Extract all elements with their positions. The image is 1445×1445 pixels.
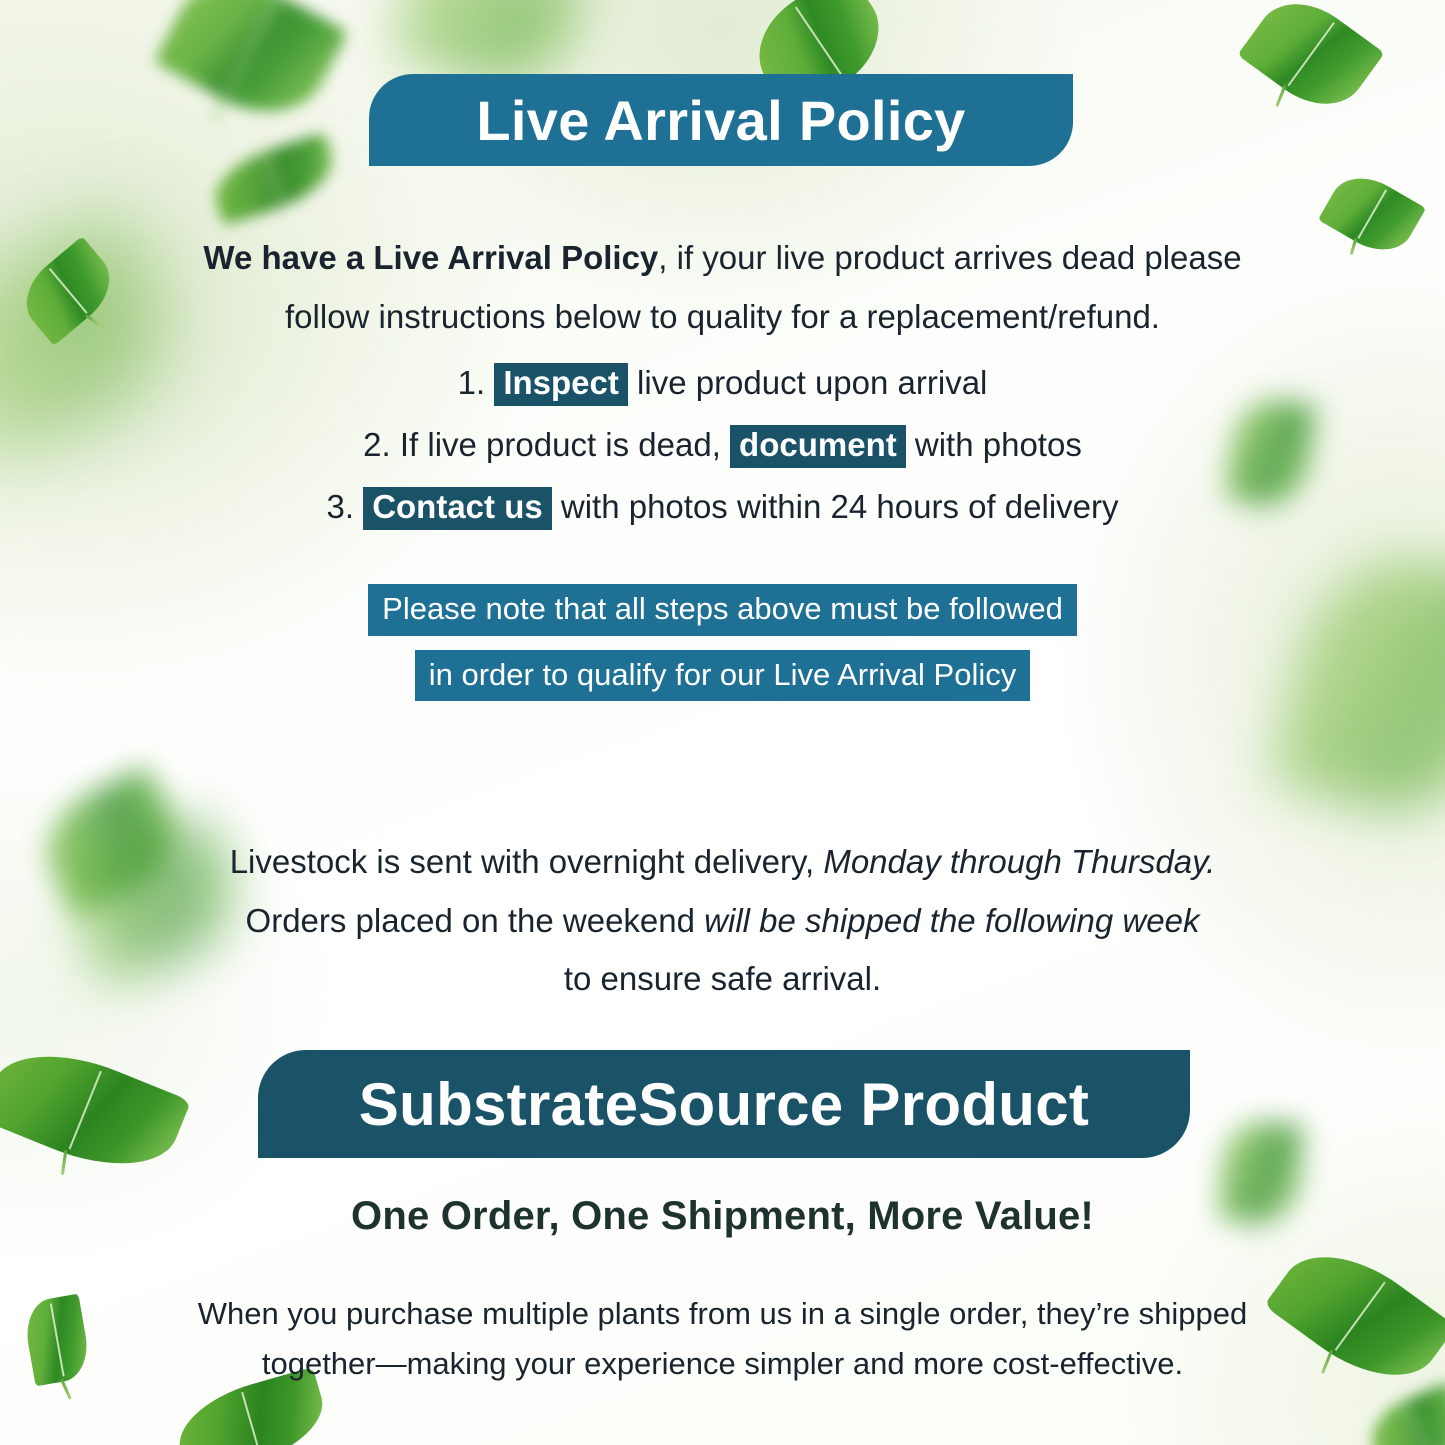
note-line-2: in order to qualify for our Live Arrival…: [415, 650, 1031, 702]
step-number: 3.: [326, 488, 354, 525]
promo-content: Live Arrival Policy We have a Live Arriv…: [0, 0, 1445, 1445]
shipping-line3-text: to ensure safe arrival.: [564, 960, 881, 997]
intro-bold-lead: We have a Live Arrival Policy: [203, 239, 658, 276]
live-arrival-policy-banner: Live Arrival Policy: [369, 74, 1073, 166]
live-arrival-policy-title: Live Arrival Policy: [476, 88, 965, 153]
shipping-line1-text: Livestock is sent with overnight deliver…: [230, 843, 814, 880]
step-highlight-inspect: Inspect: [494, 363, 628, 406]
value-line-1: When you purchase multiple plants from u…: [198, 1296, 1247, 1331]
step-text-before: If live product is dead,: [400, 426, 721, 463]
shipping-line2-emphasis: will be shipped the following week: [704, 902, 1199, 939]
value-line-2: together—making your experience simpler …: [262, 1346, 1183, 1381]
step-text-after: live product upon arrival: [637, 364, 987, 401]
shipping-line2-text: Orders placed on the weekend: [246, 902, 695, 939]
step-highlight-document: document: [730, 425, 906, 468]
list-item: 1. Inspect live product upon arrival: [160, 352, 1285, 414]
promo-graphic-page: Live Arrival Policy We have a Live Arriv…: [0, 0, 1445, 1445]
step-text-after: with photos within 24 hours of delivery: [561, 488, 1119, 525]
value-paragraph: When you purchase multiple plants from u…: [160, 1289, 1285, 1389]
shipping-schedule-paragraph: Livestock is sent with overnight deliver…: [160, 833, 1285, 1009]
step-number: 1.: [458, 364, 486, 401]
step-number: 2.: [363, 426, 391, 463]
step-text-after: with photos: [915, 426, 1082, 463]
substrate-source-product-title: SubstrateSource Product: [359, 1070, 1089, 1139]
shipping-line1-emphasis: Monday through Thursday.: [823, 843, 1215, 880]
substrate-source-product-banner: SubstrateSource Product: [258, 1050, 1190, 1158]
intro-paragraph: We have a Live Arrival Policy, if your l…: [160, 229, 1285, 346]
policy-note-block: Please note that all steps above must be…: [160, 584, 1285, 715]
value-subheading: One Order, One Shipment, More Value!: [160, 1194, 1285, 1239]
list-item: 3. Contact us with photos within 24 hour…: [160, 476, 1285, 538]
step-highlight-contact-us[interactable]: Contact us: [363, 487, 552, 530]
policy-steps-list: 1. Inspect live product upon arrival 2. …: [160, 352, 1285, 538]
note-line-1: Please note that all steps above must be…: [368, 584, 1077, 636]
list-item: 2. If live product is dead, document wit…: [160, 414, 1285, 476]
